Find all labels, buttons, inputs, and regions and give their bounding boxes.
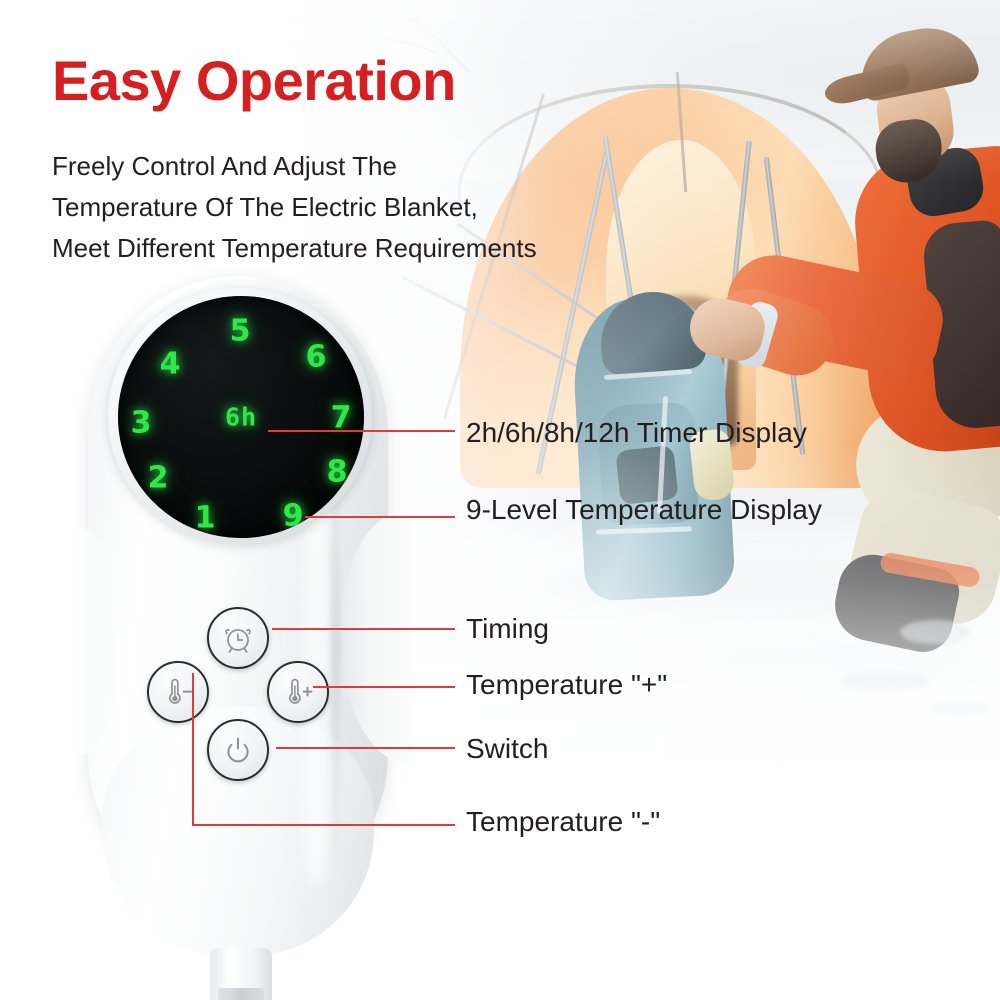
led-level-5: 5 <box>230 314 251 349</box>
page-title: Easy Operation <box>52 48 456 113</box>
callout-label-temperature-display: 9-Level Temperature Display <box>466 494 822 526</box>
power-button[interactable] <box>207 719 269 781</box>
subtitle-line-2: Temperature Of The Electric Blanket, <box>52 187 537 228</box>
page-subtitle: Freely Control And Adjust The Temperatur… <box>52 146 537 269</box>
callout-label-temperature-minus: Temperature "-" <box>466 806 660 838</box>
temperature-down-button[interactable] <box>147 661 209 723</box>
led-level-3: 3 <box>131 406 152 441</box>
callout-label-temperature-plus: Temperature "+" <box>466 669 667 701</box>
led-level-7: 7 <box>331 401 352 436</box>
led-level-8: 8 <box>327 455 348 490</box>
subtitle-line-3: Meet Different Temperature Requirements <box>52 228 537 269</box>
remote-cable-band <box>218 988 264 1000</box>
callout-label-timing: Timing <box>466 613 549 645</box>
infographic-canvas: Easy Operation Freely Control And Adjust… <box>0 0 1000 1000</box>
led-level-1: 1 <box>195 501 216 536</box>
led-display[interactable]: 6h 123456789 <box>118 296 364 538</box>
subtitle-line-1: Freely Control And Adjust The <box>52 146 537 187</box>
remote-controller: 6h 123456789 <box>88 276 408 1000</box>
thermometer-plus-icon <box>280 676 316 708</box>
thermometer-minus-icon <box>160 676 196 708</box>
led-level-9: 9 <box>283 499 304 534</box>
callout-label-switch: Switch <box>466 733 548 765</box>
power-icon <box>222 734 254 766</box>
led-level-4: 4 <box>160 347 181 382</box>
timer-value: 6h <box>225 403 257 432</box>
alarm-clock-icon <box>221 621 255 655</box>
callout-label-timer-display: 2h/6h/8h/12h Timer Display <box>466 417 807 449</box>
temperature-up-button[interactable] <box>267 661 329 723</box>
led-level-2: 2 <box>148 461 169 496</box>
timing-button[interactable] <box>207 607 269 669</box>
led-level-6: 6 <box>306 340 327 375</box>
